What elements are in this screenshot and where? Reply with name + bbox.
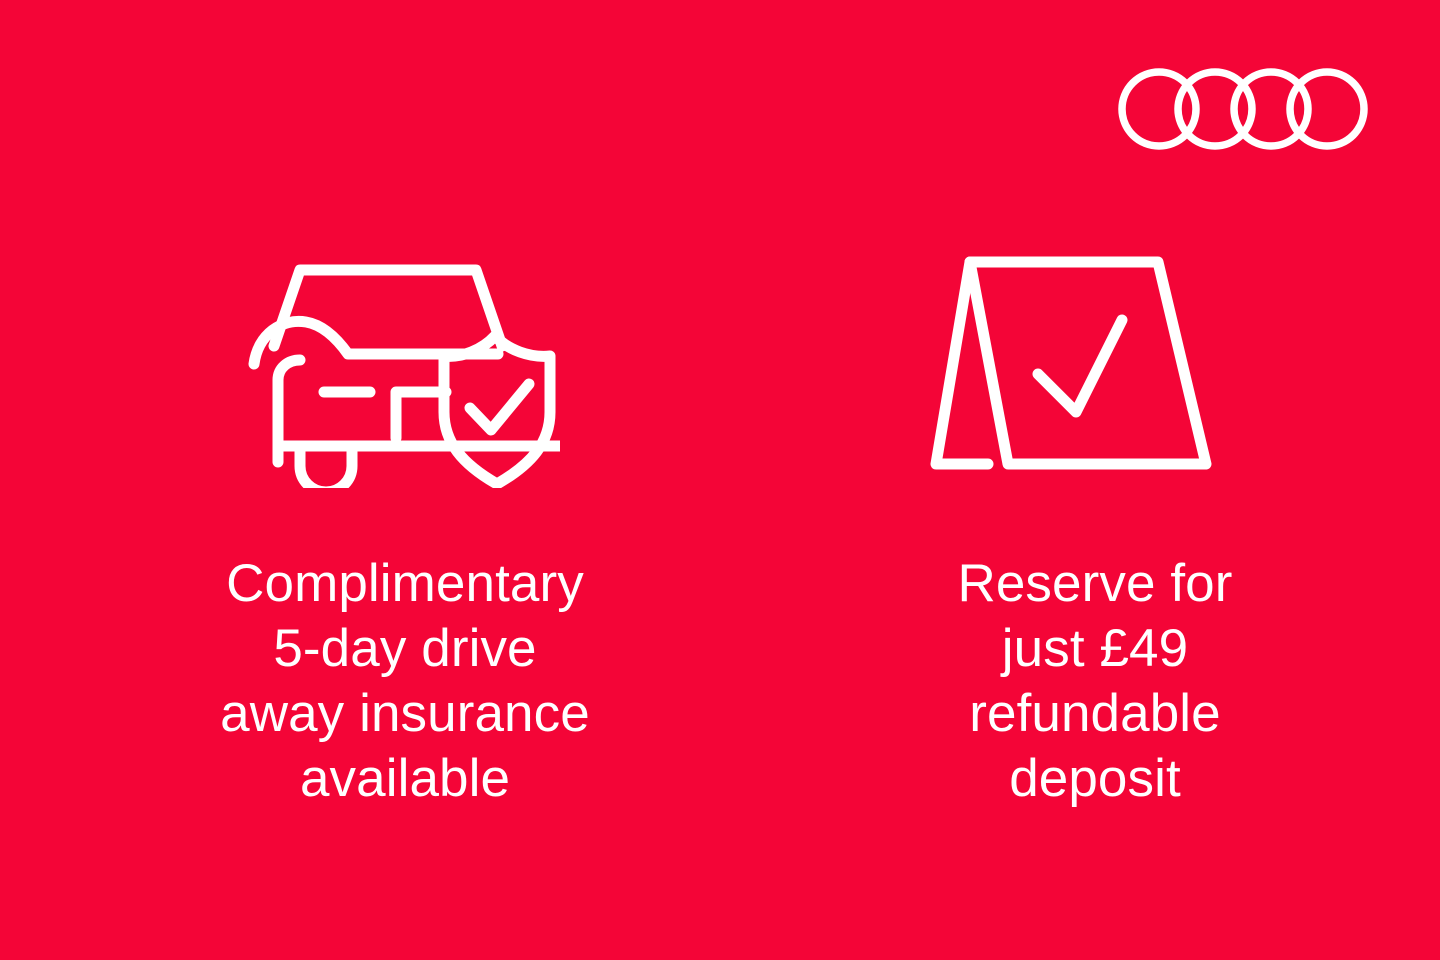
car-shield-insurance-icon xyxy=(248,252,560,488)
tent-card-check-icon xyxy=(926,252,1216,480)
feature-caption-insurance: Complimentary 5-day drive away insurance… xyxy=(60,551,750,811)
feature-caption-deposit: Reserve for just £49 refundable deposit xyxy=(845,551,1345,811)
promo-banner: Complimentary 5-day drive away insurance… xyxy=(0,0,1440,960)
feature-columns: Complimentary 5-day drive away insurance… xyxy=(0,0,1440,960)
